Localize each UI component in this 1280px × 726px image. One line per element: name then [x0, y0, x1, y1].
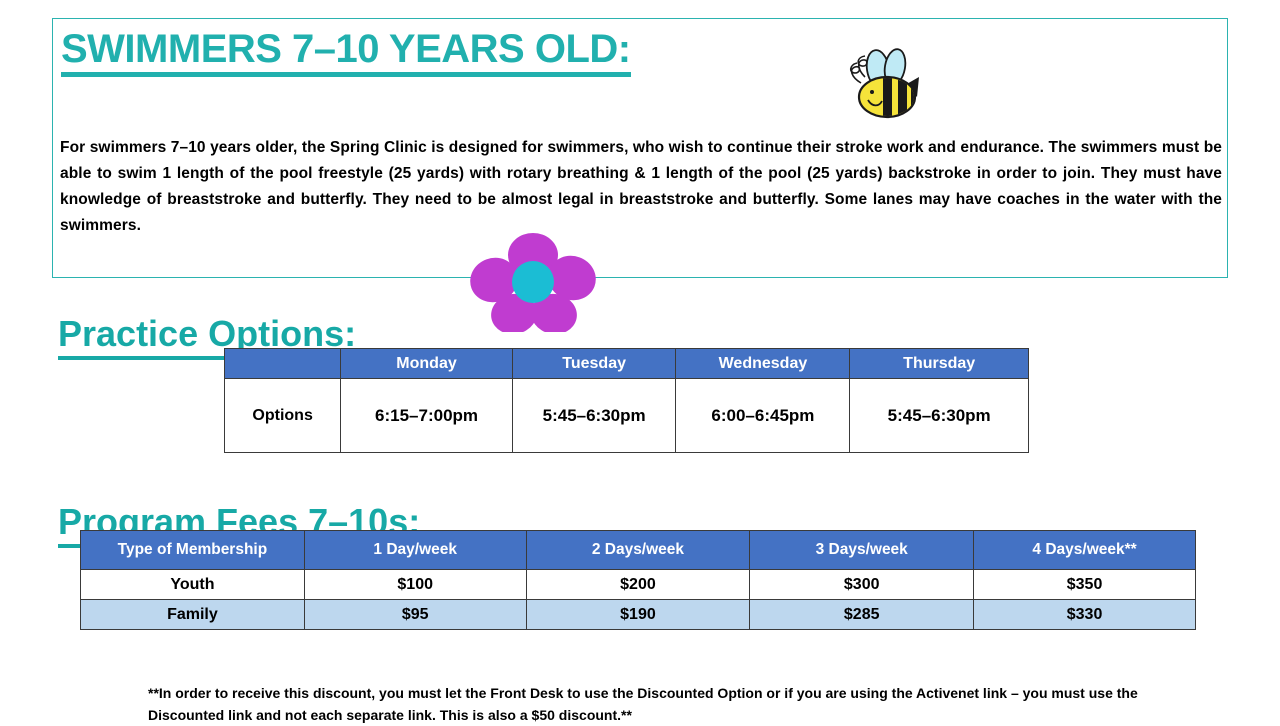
- flower-icon: [470, 232, 596, 332]
- fees-family-1day: $95: [304, 600, 526, 630]
- intro-paragraph: For swimmers 7–10 years older, the Sprin…: [60, 135, 1222, 239]
- practice-cell-monday: 6:15–7:00pm: [341, 379, 513, 453]
- practice-options-table: Monday Tuesday Wednesday Thursday Option…: [224, 348, 1029, 453]
- intro-description-box: SWIMMERS 7–10 YEARS OLD: For sw: [52, 18, 1228, 278]
- table-row: Family $95 $190 $285 $330: [81, 600, 1196, 630]
- practice-cell-wednesday: 6:00–6:45pm: [676, 379, 850, 453]
- practice-header-monday: Monday: [341, 349, 513, 379]
- fees-youth-4days: $350: [974, 570, 1196, 600]
- fees-row-label-youth: Youth: [81, 570, 305, 600]
- practice-header-wednesday: Wednesday: [676, 349, 850, 379]
- bee-icon: [841, 47, 925, 121]
- table-row: Options 6:15–7:00pm 5:45–6:30pm 6:00–6:4…: [225, 379, 1029, 453]
- page-title-text: SWIMMERS 7–10 YEARS OLD:: [61, 29, 631, 77]
- fees-youth-2days: $200: [526, 570, 750, 600]
- fees-header-3days: 3 Days/week: [750, 531, 974, 570]
- fees-youth-3days: $300: [750, 570, 974, 600]
- practice-cell-tuesday: 5:45–6:30pm: [512, 379, 676, 453]
- table-header-row: Monday Tuesday Wednesday Thursday: [225, 349, 1029, 379]
- table-header-row: Type of Membership 1 Day/week 2 Days/wee…: [81, 531, 1196, 570]
- practice-header-tuesday: Tuesday: [512, 349, 676, 379]
- practice-header-thursday: Thursday: [850, 349, 1029, 379]
- fees-family-3days: $285: [750, 600, 974, 630]
- discount-footnote: **In order to receive this discount, you…: [148, 682, 1148, 726]
- fees-header-1day: 1 Day/week: [304, 531, 526, 570]
- table-row: Youth $100 $200 $300 $350: [81, 570, 1196, 600]
- program-fees-table: Type of Membership 1 Day/week 2 Days/wee…: [80, 530, 1196, 630]
- fees-family-4days: $330: [974, 600, 1196, 630]
- practice-header-blank: [225, 349, 341, 379]
- fees-youth-1day: $100: [304, 570, 526, 600]
- fees-family-2days: $190: [526, 600, 750, 630]
- page-title: SWIMMERS 7–10 YEARS OLD:: [61, 29, 631, 77]
- fees-row-label-family: Family: [81, 600, 305, 630]
- practice-row-label: Options: [225, 379, 341, 453]
- fees-header-4days: 4 Days/week**: [974, 531, 1196, 570]
- fees-header-type: Type of Membership: [81, 531, 305, 570]
- practice-cell-thursday: 5:45–6:30pm: [850, 379, 1029, 453]
- fees-header-2days: 2 Days/week: [526, 531, 750, 570]
